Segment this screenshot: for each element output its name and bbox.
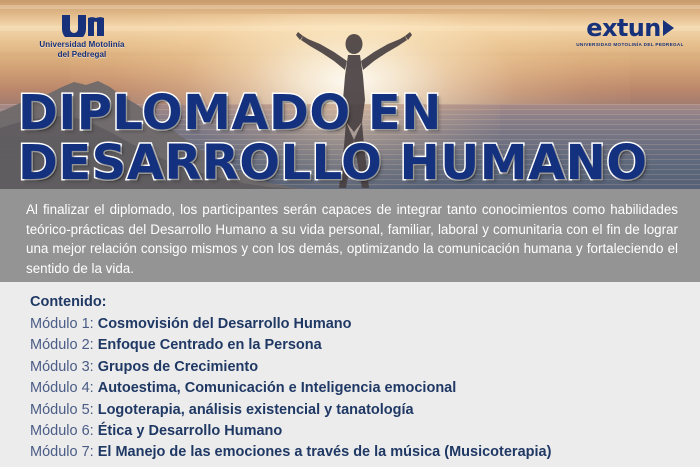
extun-logo: extun UNIVERSIDAD MOTOLINÍA DEL PEDREGAL [574,16,686,48]
module-label: Módulo 1: [30,316,94,332]
university-name-line1: Universidad Motolinía [22,40,142,50]
mountain-silhouette [0,54,330,189]
module-label: Módulo 3: [30,359,94,375]
module-title: Enfoque Centrado en la Persona [98,337,322,353]
extun-wordmark-row: extun [574,16,686,40]
module-title: Logoterapia, análisis existencial y tana… [98,402,414,418]
module-label: Módulo 5: [30,402,94,418]
module-row: Módulo 7: El Manejo de las emociones a t… [30,442,700,463]
module-label: Módulo 7: [30,444,94,460]
module-label: Módulo 4: [30,380,94,396]
module-row: Módulo 2: Enfoque Centrado en la Persona [30,335,700,356]
module-list: Módulo 1: Cosmovisión del Desarrollo Hum… [30,314,700,467]
module-label: Módulo 6: [30,423,94,439]
module-label: Módulo 2: [30,337,94,353]
description-band: Al finalizar el diplomado, los participa… [0,189,700,282]
hero-photo: Universidad Motolinía del Pedregal extun… [0,0,700,189]
module-title: Autoestima, Comunicación e Inteligencia … [98,380,457,396]
module-row: Módulo 4: Autoestima, Comunicación e Int… [30,378,700,399]
module-row: Módulo 6: Ética y Desarrollo Humano [30,421,700,442]
module-row: Módulo 1: Cosmovisión del Desarrollo Hum… [30,314,700,335]
person-arms-raised-silhouette [296,14,412,189]
university-logo: Universidad Motolinía del Pedregal [22,14,142,60]
university-name-line2: del Pedregal [22,50,142,60]
module-title: Cosmovisión del Desarrollo Humano [98,316,352,332]
module-title: Grupos de Crecimiento [98,359,258,375]
description-text: Al finalizar el diplomado, los participa… [26,200,678,278]
module-row: Módulo 3: Grupos de Crecimiento [30,357,700,378]
play-arrow-icon [663,20,674,36]
extun-wordmark: extun [586,16,660,40]
extun-subtitle: UNIVERSIDAD MOTOLINÍA DEL PEDREGAL [574,41,686,48]
course-poster: Universidad Motolinía del Pedregal extun… [0,0,700,467]
module-row: Módulo 5: Logoterapia, análisis existenc… [30,400,700,421]
content-heading: Contenido: [30,292,700,313]
um-monogram-icon [60,14,104,37]
module-title: El Manejo de las emociones a través de l… [98,444,552,460]
content-section: Contenido: Módulo 1: Cosmovisión del Des… [0,282,700,467]
module-title: Ética y Desarrollo Humano [98,423,283,439]
